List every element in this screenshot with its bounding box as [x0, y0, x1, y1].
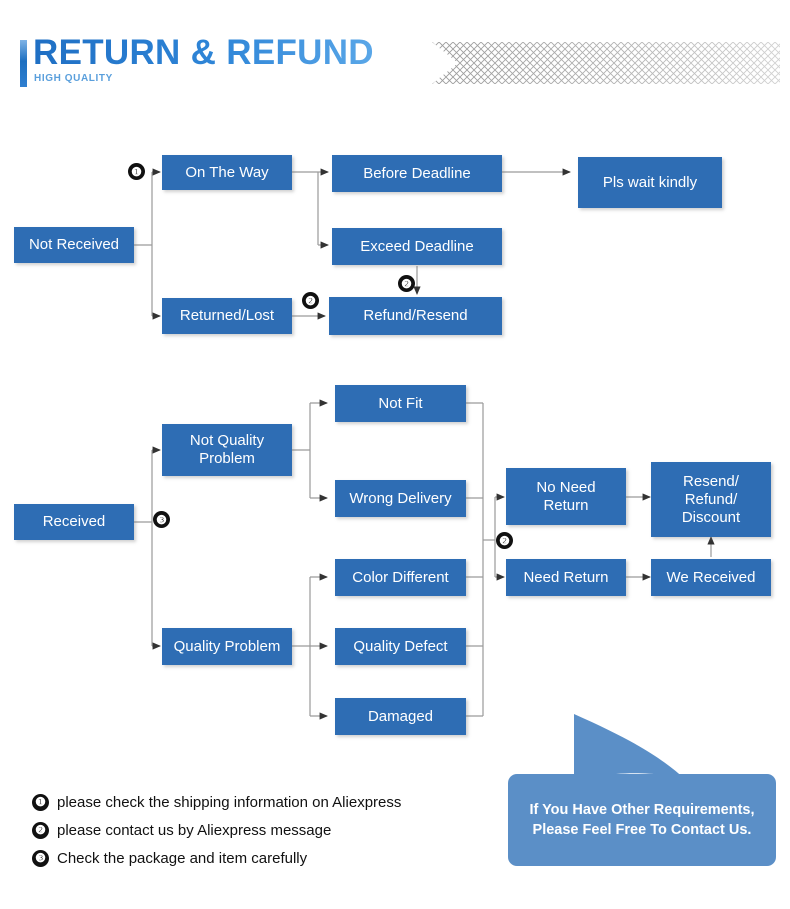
- legend-text-2: please contact us by Aliexpress message: [57, 822, 331, 839]
- box-pls-wait-kindly[interactable]: Pls wait kindly: [578, 157, 722, 208]
- crosshatch-ribbon-icon: [432, 42, 780, 84]
- badge-2-exceed-deadline: ❷: [398, 275, 415, 292]
- contact-callout: If You Have Other Requirements, Please F…: [500, 712, 780, 872]
- return-refund-infographic: RETURN & REFUND HIGH QUALITY: [0, 0, 790, 909]
- header: RETURN & REFUND HIGH QUALITY: [0, 0, 790, 120]
- box-resend-refund-discount[interactable]: Resend/ Refund/ Discount: [651, 462, 771, 537]
- badge-2-returned-lost: ❷: [302, 292, 319, 309]
- legend-item: ❶ please check the shipping information …: [32, 788, 472, 816]
- legend-item: ❸ Check the package and item carefully: [32, 844, 472, 872]
- box-quality-defect[interactable]: Quality Defect: [335, 628, 466, 665]
- title-accent-bar: [20, 40, 27, 87]
- box-on-the-way[interactable]: On The Way: [162, 155, 292, 190]
- page-subtitle: HIGH QUALITY: [34, 73, 113, 84]
- box-not-fit[interactable]: Not Fit: [335, 385, 466, 422]
- box-need-return[interactable]: Need Return: [506, 559, 626, 596]
- box-exceed-deadline[interactable]: Exceed Deadline: [332, 228, 502, 265]
- box-quality-problem[interactable]: Quality Problem: [162, 628, 292, 665]
- bubble-line-2: Please Feel Free To Contact Us.: [533, 820, 752, 840]
- legend-text-1: please check the shipping information on…: [57, 794, 401, 811]
- badge-2-return-split: ❷: [496, 532, 513, 549]
- box-not-quality-problem[interactable]: Not Quality Problem: [162, 424, 292, 476]
- legend-badge-2: ❷: [32, 822, 49, 839]
- badge-3-received-split: ❸: [153, 511, 170, 528]
- box-received[interactable]: Received: [14, 504, 134, 540]
- box-refund-resend[interactable]: Refund/Resend: [329, 297, 502, 335]
- legend: ❶ please check the shipping information …: [32, 788, 472, 872]
- page-title: RETURN & REFUND: [33, 33, 374, 73]
- box-damaged[interactable]: Damaged: [335, 698, 466, 735]
- bubble-body: If You Have Other Requirements, Please F…: [508, 774, 776, 866]
- legend-badge-3: ❸: [32, 850, 49, 867]
- box-not-received[interactable]: Not Received: [14, 227, 134, 263]
- box-returned-lost[interactable]: Returned/Lost: [162, 298, 292, 334]
- box-color-different[interactable]: Color Different: [335, 559, 466, 596]
- legend-item: ❷ please contact us by Aliexpress messag…: [32, 816, 472, 844]
- box-before-deadline[interactable]: Before Deadline: [332, 155, 502, 192]
- box-no-need-return[interactable]: No Need Return: [506, 468, 626, 525]
- box-we-received[interactable]: We Received: [651, 559, 771, 596]
- badge-1-on-the-way: ❶: [128, 163, 145, 180]
- box-wrong-delivery[interactable]: Wrong Delivery: [335, 480, 466, 517]
- bubble-line-1: If You Have Other Requirements,: [529, 800, 754, 820]
- legend-text-3: Check the package and item carefully: [57, 850, 307, 867]
- legend-badge-1: ❶: [32, 794, 49, 811]
